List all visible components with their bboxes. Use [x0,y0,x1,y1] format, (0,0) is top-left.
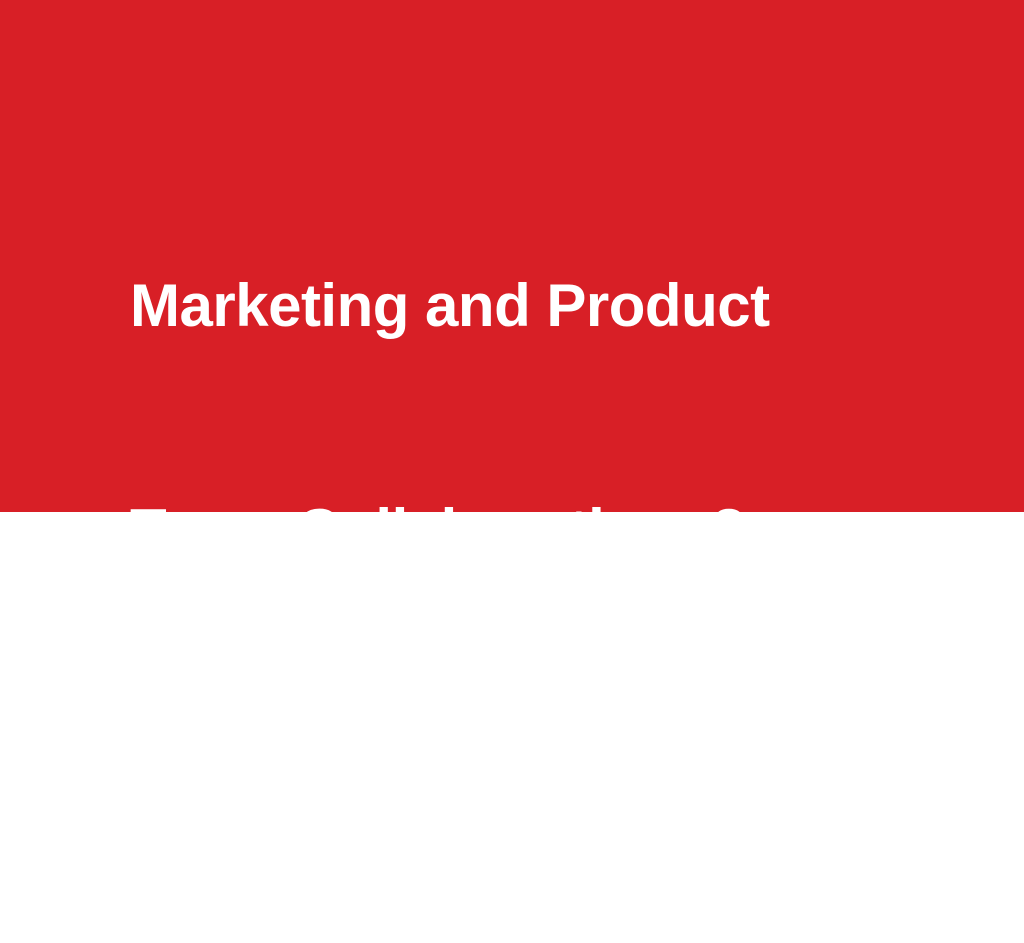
headline-line-2: Team Collaboration: 8 [130,493,970,568]
headline-block: Marketing and Product Team Collaboration… [130,118,970,943]
headline-line-3: Experimentation Strategies [130,718,970,793]
headline-line-1: Marketing and Product [130,268,970,343]
page-title: Marketing and Product Team Collaboration… [130,118,970,943]
title-card: Marketing and Product Team Collaboration… [0,0,1024,512]
